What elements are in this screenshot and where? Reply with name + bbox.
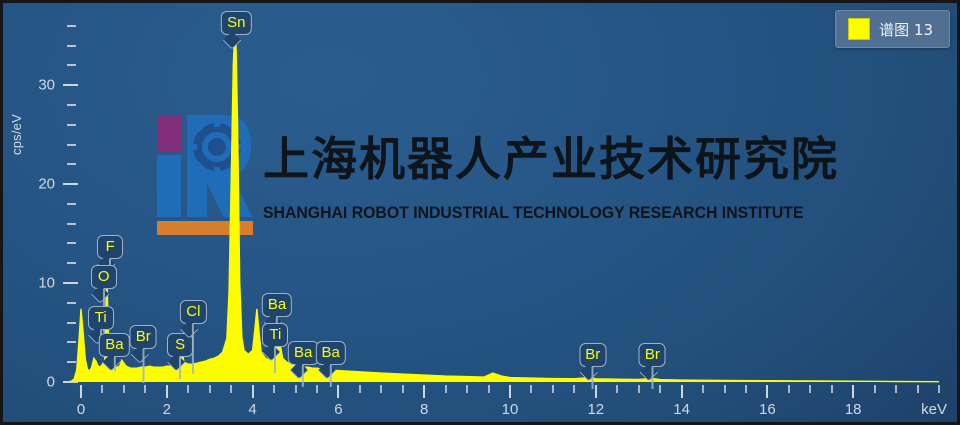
x-tick-minor [874,385,876,393]
x-tick-label: 6 [308,401,368,418]
legend-swatch [848,18,870,40]
element-label-ba[interactable]: Ba [315,341,345,365]
x-tick-minor [745,385,747,393]
y-tick-minor [67,361,76,363]
legend[interactable]: 谱图 13 [835,10,950,48]
element-label-box: Ba [262,293,292,317]
x-tick-minor [552,385,554,393]
element-label-f[interactable]: F [97,235,123,259]
x-tick-label: 10 [480,401,540,418]
label-stem [274,347,276,373]
y-tick-minor [67,262,76,264]
x-tick-minor [638,385,640,393]
x-tick-label: 18 [823,401,883,418]
y-tick-minor [67,144,76,146]
x-tick-minor [616,385,618,393]
x-tick-minor [316,385,318,393]
x-tick-major [681,385,683,398]
y-tick-minor [67,163,76,165]
plot-area: cps/eV 0102030 024681012141618 keV [3,3,957,422]
x-tick-minor [123,385,125,393]
label-stem [592,367,594,389]
x-tick-major [337,385,339,398]
y-tick-label: 20 [15,176,55,193]
x-tick-minor [445,385,447,393]
y-tick-minor [67,223,76,225]
y-tick-major [63,84,78,86]
element-label-box: Ba [99,333,129,357]
x-tick-minor [809,385,811,393]
x-tick-major [166,385,168,398]
x-tick-label: 0 [51,401,111,418]
y-tick-minor [67,341,76,343]
element-label-sn[interactable]: Sn [221,11,251,35]
x-tick-minor [273,385,275,393]
element-label-br[interactable]: Br [579,343,606,367]
element-label-ti[interactable]: Ti [262,323,288,347]
element-label-box: Br [579,343,606,367]
x-tick-label: 16 [737,401,797,418]
x-tick-minor [938,385,940,393]
y-tick-major [63,381,78,383]
label-stem [330,365,332,387]
x-tick-minor [724,385,726,393]
x-tick-minor [831,385,833,393]
x-tick-major [509,385,511,398]
x-tick-minor [402,385,404,393]
label-stem [651,367,653,389]
x-tick-minor [230,385,232,393]
y-tick-minor [67,302,76,304]
y-tick-minor [67,45,76,47]
y-tick-label: 10 [15,275,55,292]
y-tick-label: 0 [15,374,55,391]
element-label-box: O [91,265,117,289]
x-tick-minor [101,385,103,393]
x-tick-minor [295,385,297,393]
element-label-ba[interactable]: Ba [99,333,129,357]
element-label-br[interactable]: Br [130,325,157,349]
x-tick-minor [895,385,897,393]
y-tick-major [63,183,78,185]
x-tick-minor [380,385,382,393]
element-label-box: Cl [180,300,206,324]
x-tick-label: 12 [566,401,626,418]
y-tick-minor [67,64,76,66]
x-tick-major [595,385,597,398]
eds-spectrum-viewer: 上海机器人产业技术研究院 SHANGHAI ROBOT INDUSTRIAL T… [0,0,960,425]
y-tick-label: 30 [15,77,55,94]
element-label-o[interactable]: O [91,265,117,289]
label-stem [302,365,304,387]
x-tick-minor [488,385,490,393]
legend-label: 谱图 13 [879,19,933,40]
y-tick-minor [67,104,76,106]
element-label-ba[interactable]: Ba [262,293,292,317]
element-label-box: F [97,235,123,259]
element-label-br[interactable]: Br [639,343,666,367]
x-tick-minor [466,385,468,393]
x-tick-minor [530,385,532,393]
x-axis-unit-label: keV [921,401,947,418]
x-tick-major [252,385,254,398]
x-tick-major [852,385,854,398]
y-tick-minor [67,322,76,324]
label-stem [179,357,181,379]
x-tick-major [423,385,425,398]
element-label-box: Br [639,343,666,367]
label-stem [142,349,144,383]
y-tick-minor [67,203,76,205]
x-tick-minor [144,385,146,393]
y-tick-minor [67,242,76,244]
element-label-box: Ti [88,306,114,330]
x-tick-label: 4 [223,401,283,418]
x-tick-major [80,385,82,398]
label-stem [113,357,115,371]
x-tick-label: 2 [137,401,197,418]
x-tick-minor [187,385,189,393]
y-tick-major [63,282,78,284]
element-label-cl[interactable]: Cl [180,300,206,324]
x-tick-label: 8 [394,401,454,418]
element-label-box: Br [130,325,157,349]
x-tick-minor [209,385,211,393]
x-tick-minor [659,385,661,393]
y-tick-minor [67,25,76,27]
y-tick-minor [67,124,76,126]
x-tick-major [766,385,768,398]
element-label-box: Sn [221,11,251,35]
y-axis-title: cps/eV [9,114,24,155]
element-label-ba[interactable]: Ba [288,341,318,365]
x-tick-minor [917,385,919,393]
label-stem [192,324,194,374]
x-tick-minor [573,385,575,393]
element-label-ti[interactable]: Ti [88,306,114,330]
x-tick-minor [359,385,361,393]
x-tick-label: 14 [652,401,712,418]
element-label-box: Ba [288,341,318,365]
element-label-box: Ti [262,323,288,347]
x-tick-minor [702,385,704,393]
x-tick-minor [788,385,790,393]
element-label-box: Ba [315,341,345,365]
